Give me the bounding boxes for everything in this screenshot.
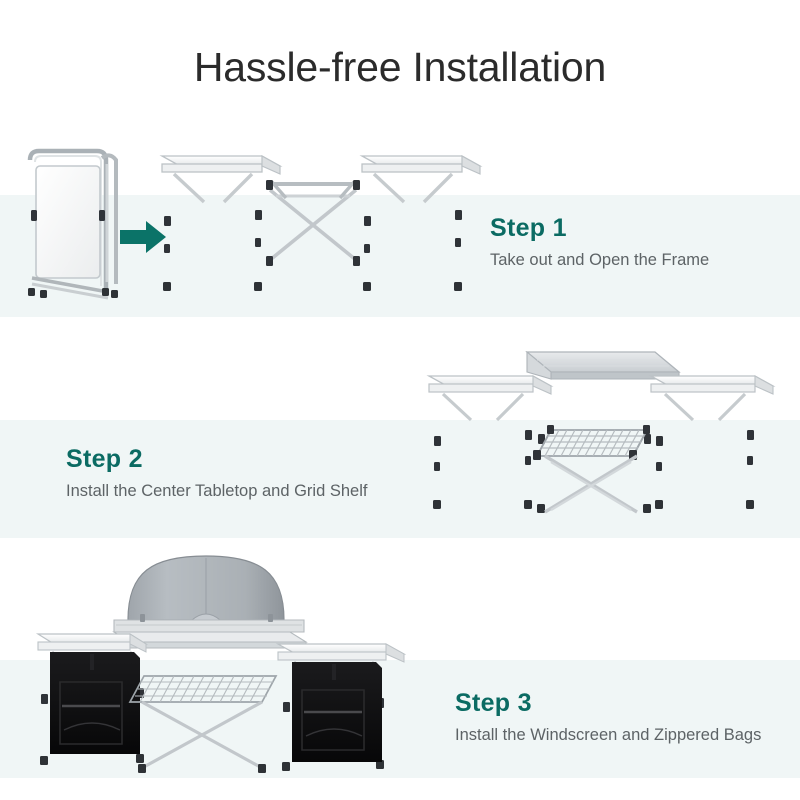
step-1-illustration <box>14 138 484 313</box>
left-zippered-bag <box>50 652 140 754</box>
step-1-number: Step 1 <box>490 215 709 243</box>
right-side-table <box>651 376 773 509</box>
step-3-illustration <box>28 548 428 776</box>
step-1-description: Take out and Open the Frame <box>490 250 709 271</box>
open-frame-cross-brace <box>266 180 360 266</box>
center-frame-legs <box>537 379 651 513</box>
wire-grid-shelf <box>130 676 276 702</box>
right-arrow-icon <box>116 216 170 258</box>
open-frame-left-table <box>162 156 280 291</box>
right-zippered-bag <box>292 662 382 762</box>
center-tabletop <box>527 352 679 379</box>
open-frame-right-table <box>362 156 480 291</box>
wire-grid-shelf <box>533 425 650 460</box>
step-2-description: Install the Center Tabletop and Grid She… <box>66 481 367 502</box>
step-3-number: Step 3 <box>455 690 761 718</box>
step-2-caption: Step 2 Install the Center Tabletop and G… <box>66 446 367 501</box>
folded-table <box>28 151 118 298</box>
installation-infographic: Hassle-free Installation <box>0 0 800 800</box>
step-3-caption: Step 3 Install the Windscreen and Zipper… <box>455 690 761 745</box>
step-3-description: Install the Windscreen and Zippered Bags <box>455 725 761 746</box>
step-1-caption: Step 1 Take out and Open the Frame <box>490 215 709 270</box>
windscreen-panel <box>114 556 304 632</box>
cross-brace <box>138 702 266 773</box>
step-2-illustration <box>415 338 787 520</box>
left-side-table <box>429 376 551 509</box>
step-2-number: Step 2 <box>66 446 367 474</box>
cross-brace <box>545 456 637 512</box>
page-title: Hassle-free Installation <box>0 44 800 91</box>
